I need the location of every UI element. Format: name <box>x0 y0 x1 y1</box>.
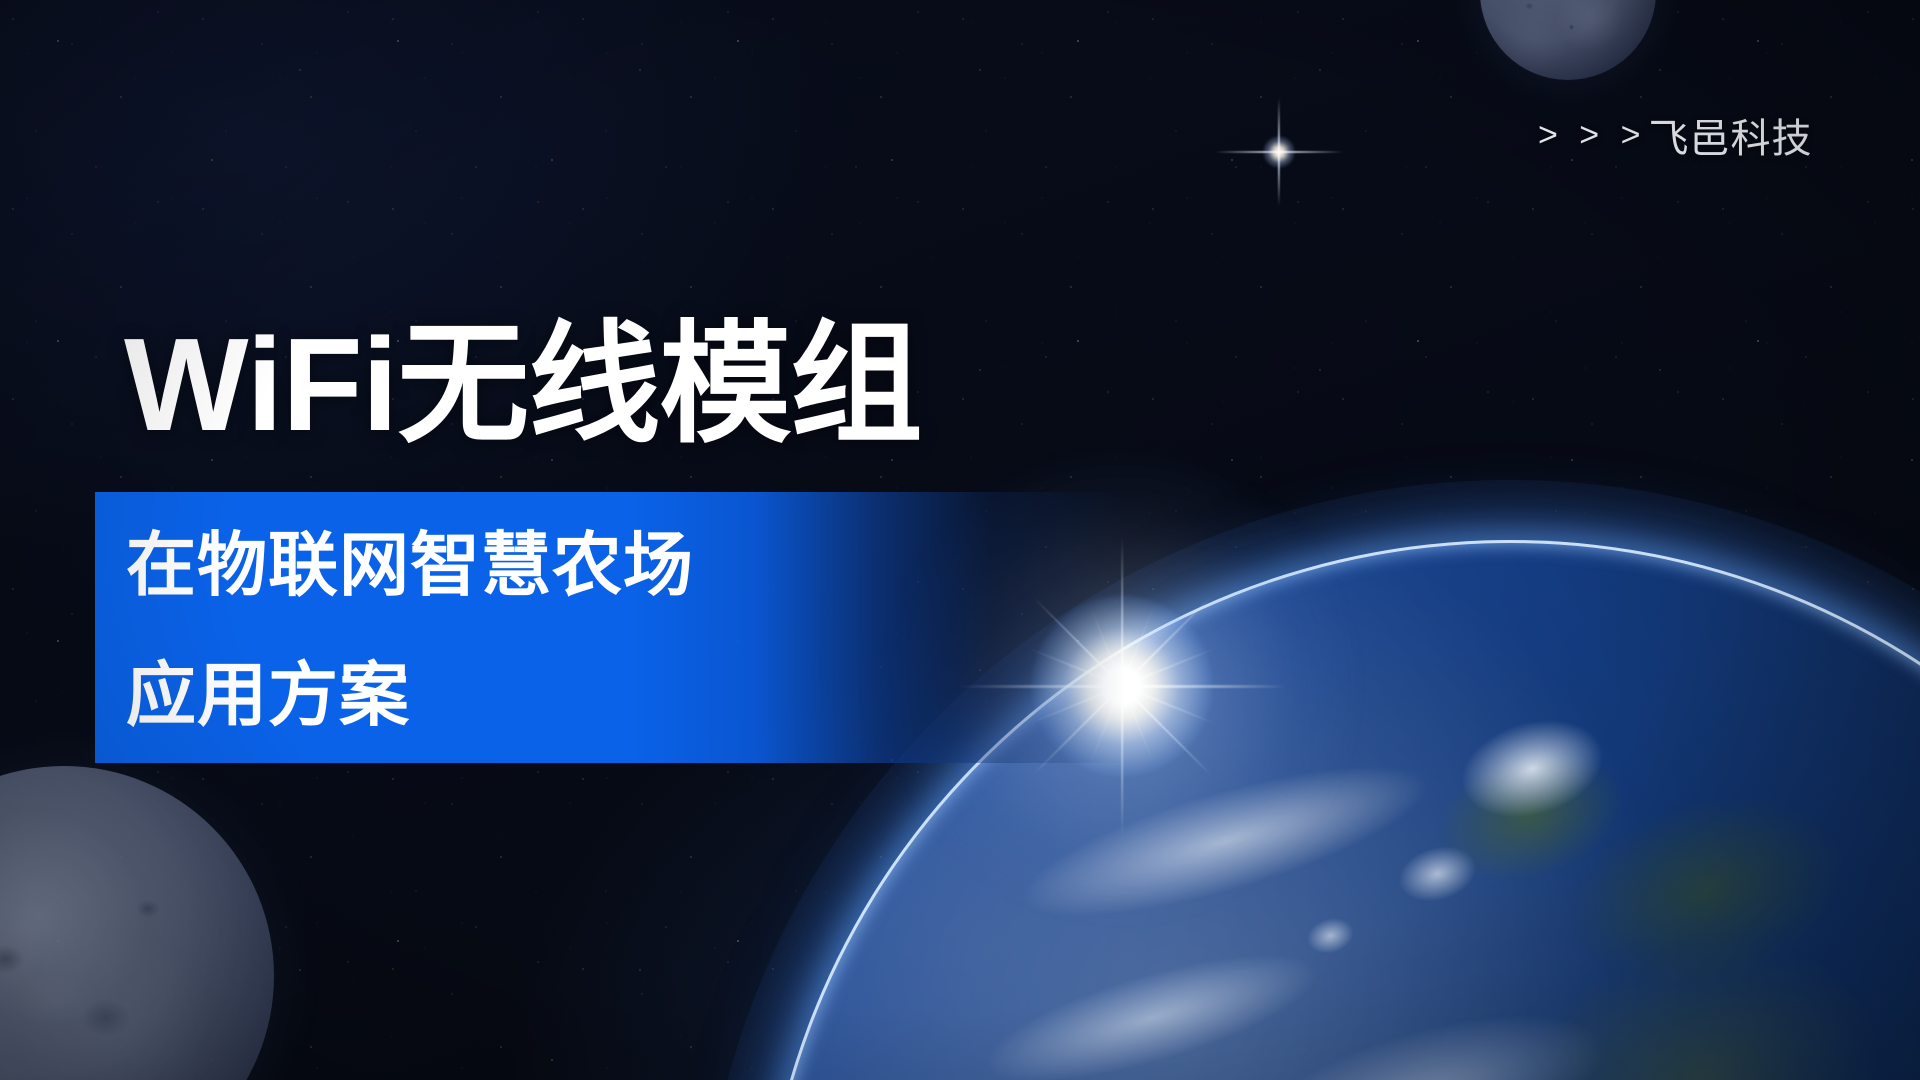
brand-name: 飞邑科技 <box>1648 106 1812 164</box>
brand-logo[interactable]: > > > 飞邑科技 <box>1538 106 1812 164</box>
subtitle-line-1: 在物联网智慧农场 <box>126 500 1026 630</box>
subtitle-line-2: 应用方案 <box>126 630 1026 760</box>
page-title: WiFi无线模组 <box>124 316 921 455</box>
poster-canvas: > > > 飞邑科技 WiFi无线模组 在物联网智慧农场 应用方案 <box>0 0 1920 1080</box>
subtitle-block: 在物联网智慧农场 应用方案 <box>126 500 1026 760</box>
chevrons-icon: > > > <box>1538 116 1646 155</box>
star-core <box>1263 136 1295 168</box>
bright-star-icon <box>1279 152 1281 154</box>
